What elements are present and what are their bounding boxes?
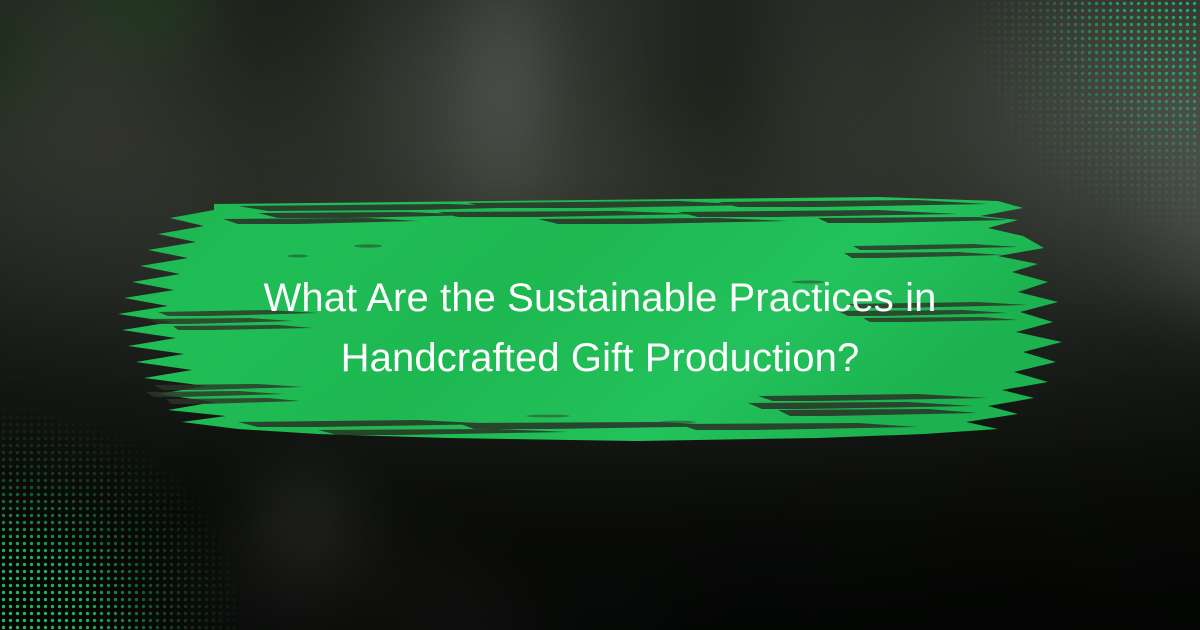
social-share-banner: What Are the Sustainable Practices in Ha… xyxy=(0,0,1200,630)
page-title: What Are the Sustainable Practices in Ha… xyxy=(0,268,1200,388)
page-title-line-2: Handcrafted Gift Production? xyxy=(150,328,1050,388)
page-title-line-1: What Are the Sustainable Practices in xyxy=(150,268,1050,328)
